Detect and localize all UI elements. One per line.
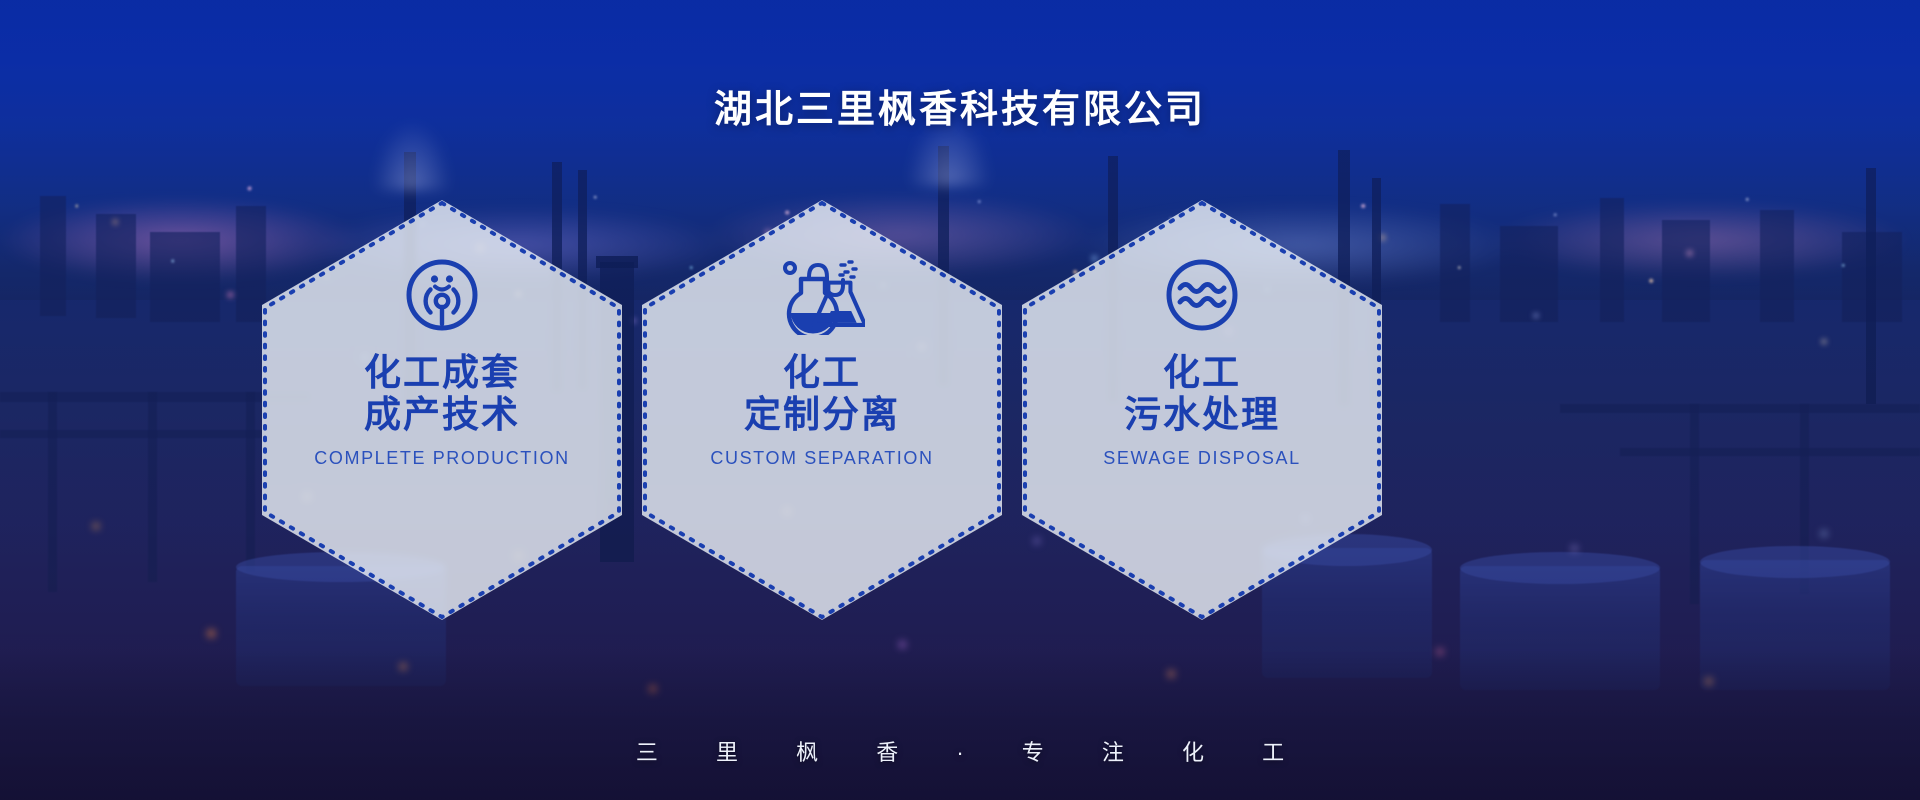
page-title: 湖北三里枫香科技有限公司 — [0, 78, 1920, 133]
feature-card-title-line1: 化工 — [1124, 352, 1280, 394]
feature-card-subtitle: SEWAGE DISPOSAL — [1103, 448, 1300, 469]
feature-card-title-line2: 成产技术 — [364, 394, 520, 436]
feature-card-title: 化工 污水处理 — [1124, 352, 1280, 436]
feature-card-title-line2: 定制分离 — [744, 394, 900, 436]
banner-stage: 湖北三里枫香科技有限公司 化工成套 成产技术 COM — [0, 0, 1920, 800]
feature-card-title-line1: 化工成套 — [364, 352, 520, 394]
feature-card-title: 化工成套 成产技术 — [364, 352, 520, 436]
slogan-text: 三 里 枫 香 · 专 注 化 工 — [0, 735, 1920, 767]
broadcast-signal-icon — [403, 252, 481, 338]
feature-card-subtitle: CUSTOM SEPARATION — [710, 448, 933, 469]
water-waves-icon — [1163, 252, 1241, 338]
feature-card-row: 化工成套 成产技术 COMPLETE PRODUCTION — [0, 190, 1920, 520]
feature-card-subtitle: COMPLETE PRODUCTION — [314, 448, 569, 469]
feature-card-title-line2: 污水处理 — [1124, 394, 1280, 436]
feature-card-title: 化工 定制分离 — [744, 352, 900, 436]
chemistry-flask-icon — [779, 252, 865, 338]
feature-card-title-line1: 化工 — [744, 352, 900, 394]
